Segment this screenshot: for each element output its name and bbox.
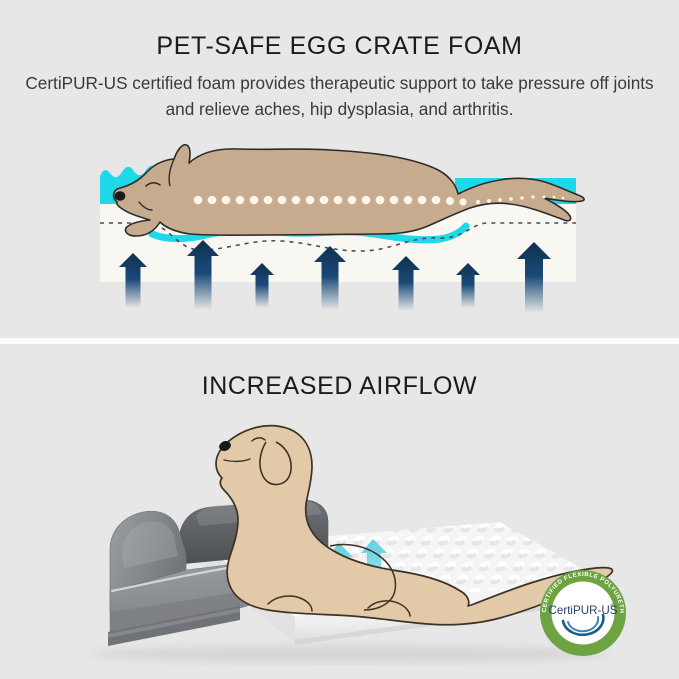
section-egg-crate-foam: PET-SAFE EGG CRATE FOAM CertiPUR-US cert… xyxy=(0,0,679,338)
product-infographic: PET-SAFE EGG CRATE FOAM CertiPUR-US cert… xyxy=(0,0,679,679)
foam-cross-section-illustration xyxy=(0,138,679,318)
badge-brand-text: CertiPUR-US xyxy=(549,604,618,617)
section-1-body-text: CertiPUR-US certified foam provides ther… xyxy=(22,70,657,122)
section-1-headline: PET-SAFE EGG CRATE FOAM xyxy=(0,32,679,61)
dog-nose xyxy=(115,191,126,201)
bed-ground-shadow xyxy=(90,645,610,663)
certipur-seal-graphic: CONTAINS CERTIFIED FLEXIBLE POLYURETHANE… xyxy=(533,563,633,663)
certipur-badge: CONTAINS CERTIFIED FLEXIBLE POLYURETHANE… xyxy=(533,563,633,663)
section-2-headline: INCREASED AIRFLOW xyxy=(0,372,679,401)
